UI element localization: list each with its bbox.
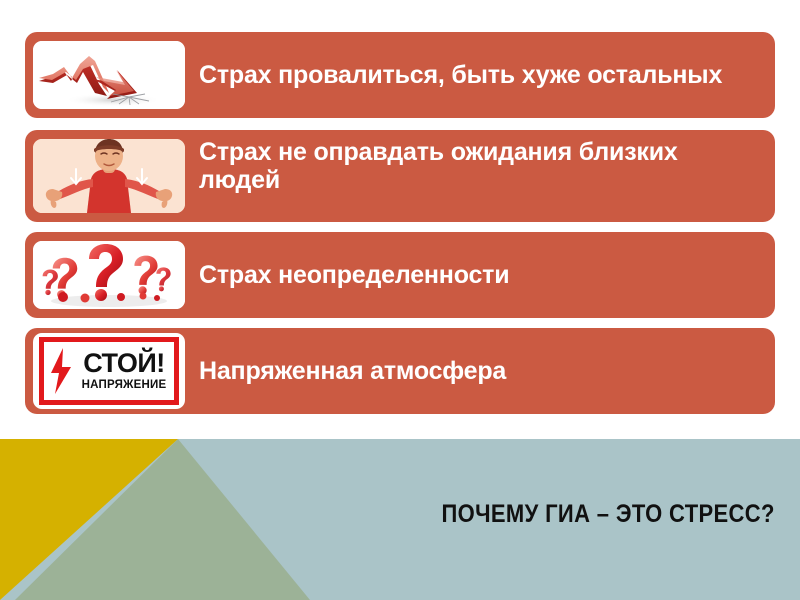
list-item-label: Страх неопределенности — [185, 261, 775, 289]
list-item-label: Напряженная атмосфера — [185, 357, 775, 385]
warning-main-text: СТОЙ! — [74, 350, 174, 377]
warning-sub-text: НАПРЯЖЕНИЕ — [74, 380, 174, 392]
list-item[interactable]: СТОЙ! НАПРЯЖЕНИЕ Напряженная атмосфера — [25, 328, 775, 414]
list-item[interactable]: Страх неопределенности — [25, 232, 775, 318]
falling-arrow-icon — [33, 41, 185, 109]
warning-sign-frame: СТОЙ! НАПРЯЖЕНИЕ — [39, 337, 179, 405]
green-triangle-decoration — [15, 439, 310, 600]
list-item-label: Страх провалиться, быть хуже остальных — [185, 61, 775, 89]
list-item[interactable]: Страх не оправдать ожидания близких люде… — [25, 130, 775, 222]
lightning-bolt-icon — [48, 347, 74, 395]
page-title: ПОЧЕМУ ГИА – ЭТО СТРЕСС? — [442, 500, 775, 529]
list-item-label: Страх не оправдать ожидания близких люде… — [185, 130, 775, 194]
slide-canvas: Страх провалиться, быть хуже остальных — [0, 0, 800, 600]
thumbs-down-person-icon — [33, 139, 185, 213]
question-marks-icon — [33, 241, 185, 309]
list-item[interactable]: Страх провалиться, быть хуже остальных — [25, 32, 775, 118]
high-voltage-warning-icon: СТОЙ! НАПРЯЖЕНИЕ — [33, 333, 185, 409]
